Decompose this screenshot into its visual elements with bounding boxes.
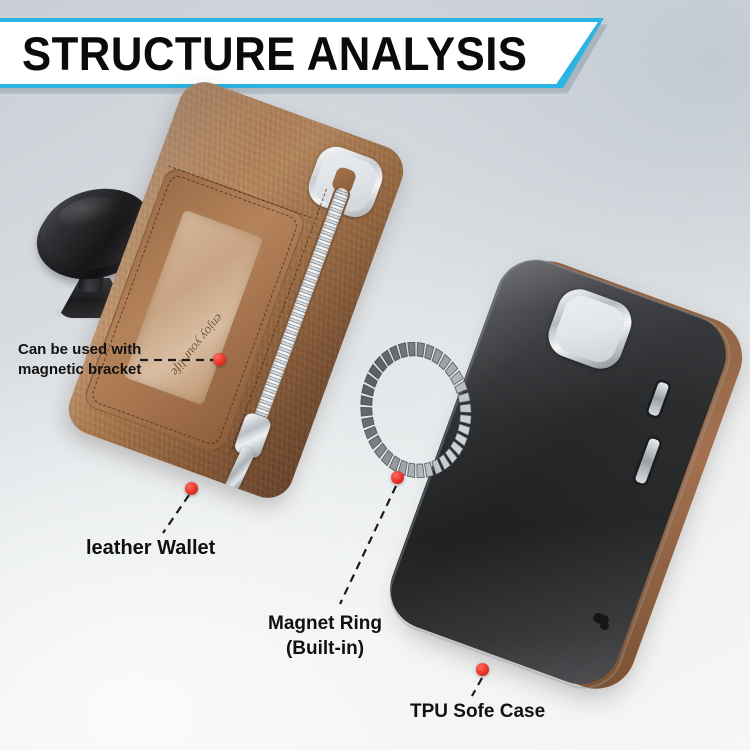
callout-label-line1: Magnet Ring bbox=[268, 612, 382, 637]
callout-dot-magnet-ring[interactable] bbox=[391, 471, 404, 484]
callout-dot-leather-wallet[interactable] bbox=[185, 482, 198, 495]
leather-wallet-case: enjoy your life bbox=[118, 104, 448, 504]
callout-label-tpu-case: TPU Sofe Case bbox=[410, 700, 545, 725]
callout-label-line2: (Built-in) bbox=[268, 637, 382, 662]
wallet-body: enjoy your life bbox=[62, 75, 411, 505]
callout-dot-tpu-case[interactable] bbox=[476, 663, 489, 676]
callout-dot-magnetic-bracket[interactable] bbox=[213, 353, 226, 366]
callout-label-line2: magnetic bracket bbox=[18, 360, 141, 380]
callout-label-line1: leather Wallet bbox=[86, 535, 215, 561]
callout-label-magnet-ring: Magnet Ring (Built-in) bbox=[268, 612, 382, 661]
callout-label-magnetic-bracket: Can be used with magnetic bracket bbox=[18, 340, 141, 379]
callout-label-line1: Can be used with bbox=[18, 340, 141, 360]
page-title: STRUCTURE ANALYSIS bbox=[22, 22, 527, 84]
infographic-canvas: STRUCTURE ANALYSIS enjoy your life bbox=[0, 0, 750, 750]
callout-label-line1: TPU Sofe Case bbox=[410, 700, 545, 725]
callout-label-leather-wallet: leather Wallet bbox=[86, 535, 215, 561]
